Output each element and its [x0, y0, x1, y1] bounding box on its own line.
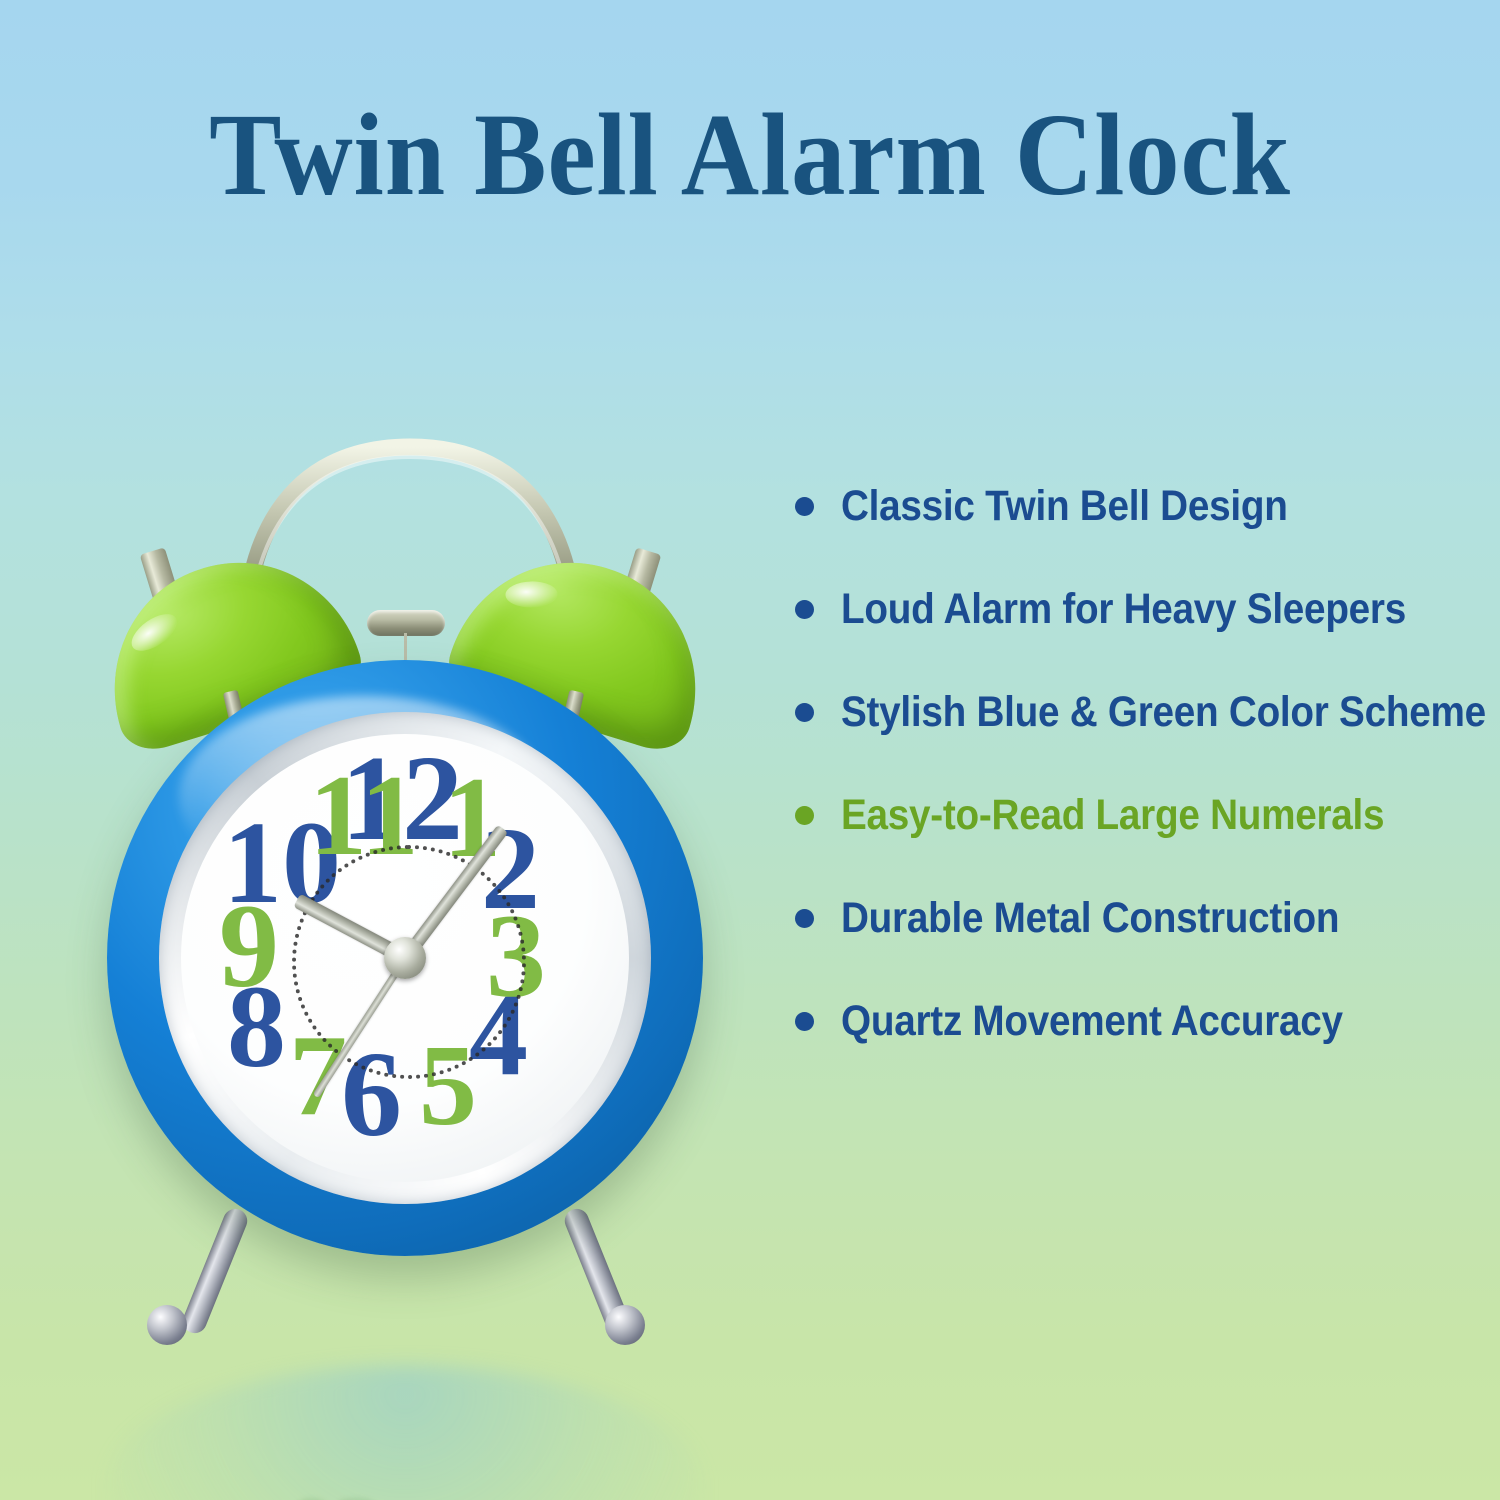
- feature-item-5: Quartz Movement Accuracy: [795, 970, 1495, 1073]
- feature-item-2: Stylish Blue & Green Color Scheme: [795, 661, 1495, 764]
- feature-item-1: Loud Alarm for Heavy Sleepers: [795, 558, 1495, 661]
- reflection-numerals: 65: [285, 1475, 385, 1500]
- feature-item-3: Easy-to-Read Large Numerals: [795, 764, 1495, 867]
- feature-label: Easy-to-Read Large Numerals: [841, 793, 1384, 838]
- page-title: Twin Bell Alarm Clock: [60, 96, 1440, 214]
- surface-reflection: [107, 1365, 703, 1500]
- feature-label: Durable Metal Construction: [841, 896, 1339, 941]
- clock-foot-ball-left: [147, 1305, 187, 1345]
- clock-case: 12 1 2 3 4 5 6 7 8 9 10 11: [107, 660, 703, 1256]
- bullet-dot-icon: [795, 806, 814, 825]
- feature-item-4: Durable Metal Construction: [795, 867, 1495, 970]
- product-infographic: Twin Bell Alarm Clock: [0, 0, 1500, 1500]
- hand-center-cap: [384, 937, 426, 979]
- feature-label: Quartz Movement Accuracy: [841, 999, 1343, 1044]
- clock-foot-ball-right: [605, 1305, 645, 1345]
- clock-dial: 12 1 2 3 4 5 6 7 8 9 10 11: [181, 734, 629, 1182]
- bullet-dot-icon: [795, 497, 814, 516]
- feature-label: Stylish Blue & Green Color Scheme: [841, 690, 1486, 735]
- bullet-dot-icon: [795, 1012, 814, 1031]
- feature-label: Loud Alarm for Heavy Sleepers: [841, 587, 1406, 632]
- feature-item-0: Classic Twin Bell Design: [795, 455, 1495, 558]
- feature-list: Classic Twin Bell Design Loud Alarm for …: [795, 455, 1495, 1073]
- product-image-alarm-clock: 12 1 2 3 4 5 6 7 8 9 10 11: [85, 425, 725, 1385]
- feature-label: Classic Twin Bell Design: [841, 484, 1288, 529]
- clock-bezel-ring: 12 1 2 3 4 5 6 7 8 9 10 11: [159, 712, 651, 1204]
- clock-foot-left: [179, 1205, 251, 1336]
- bullet-dot-icon: [795, 909, 814, 928]
- bullet-dot-icon: [795, 600, 814, 619]
- bullet-dot-icon: [795, 703, 814, 722]
